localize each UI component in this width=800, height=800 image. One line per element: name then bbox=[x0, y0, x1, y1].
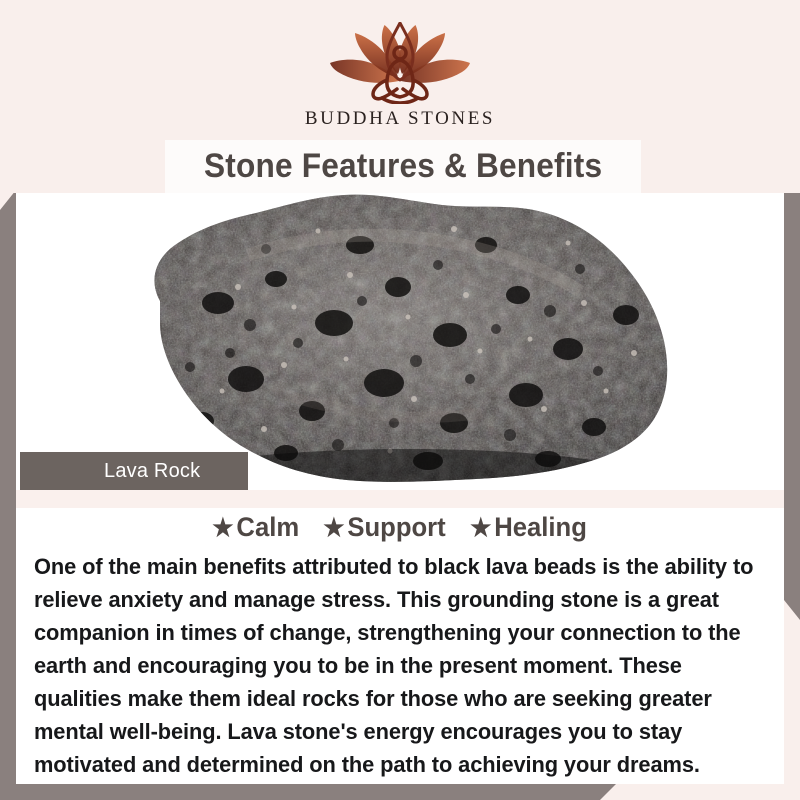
frame-border-left bbox=[0, 190, 16, 800]
benefit-label-support: Support bbox=[347, 512, 445, 542]
star-icon: ★ bbox=[323, 514, 344, 542]
benefits-row: ★Calm★Support★Healing bbox=[16, 512, 784, 543]
benefit-item-support: ★Support bbox=[323, 512, 445, 543]
lotus-meditation-icon bbox=[325, 22, 475, 104]
brand-logo: BUDDHA STONES bbox=[0, 22, 800, 130]
brand-name: BUDDHA STONES bbox=[0, 108, 800, 130]
content-divider-strip bbox=[16, 490, 784, 508]
photo-panel: Lava Rock bbox=[16, 193, 784, 490]
photo-caption: Lava Rock bbox=[20, 452, 248, 490]
page-title: Stone Features & Benefits bbox=[204, 147, 602, 186]
star-icon: ★ bbox=[213, 514, 234, 542]
benefit-label-calm: Calm bbox=[237, 512, 300, 542]
photo-caption-label: Lava Rock bbox=[104, 460, 200, 483]
benefit-label-healing: Healing bbox=[494, 512, 587, 542]
content-panel: ★Calm★Support★Healing One of the main be… bbox=[16, 490, 784, 784]
lava-rock-photo bbox=[98, 193, 718, 490]
benefit-item-calm: ★Calm bbox=[213, 512, 300, 543]
title-banner: Stone Features & Benefits bbox=[165, 140, 641, 193]
frame-border-bottom bbox=[0, 784, 800, 800]
infographic-page: BUDDHA STONES Stone Features & Benefits bbox=[0, 0, 800, 800]
star-icon: ★ bbox=[470, 514, 491, 542]
description-text: One of the main benefits attributed to b… bbox=[34, 550, 756, 781]
benefit-item-healing: ★Healing bbox=[470, 512, 587, 543]
